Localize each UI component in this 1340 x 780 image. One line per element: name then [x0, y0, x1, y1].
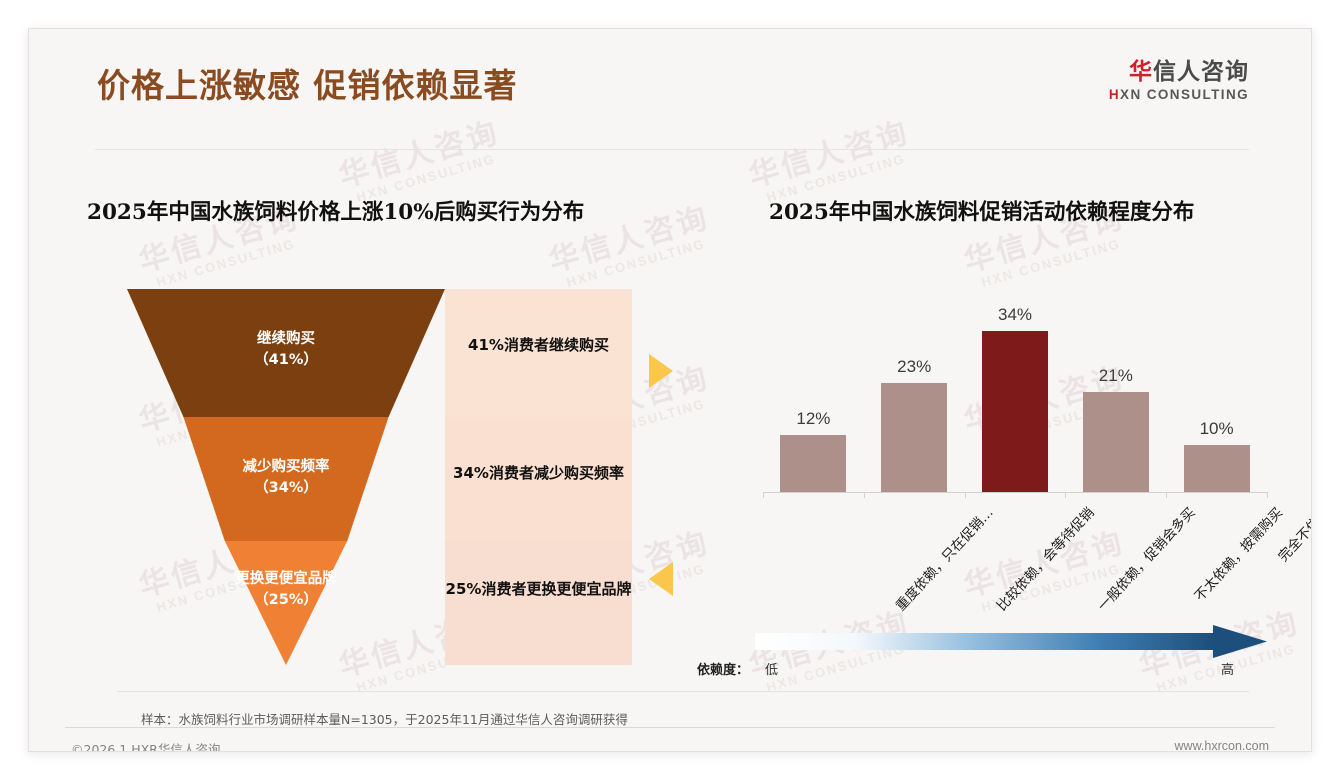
- bar-value-label: 34%: [982, 305, 1048, 325]
- footer-website: www.hxrcon.com: [1175, 739, 1269, 752]
- header-divider: [95, 149, 1249, 150]
- bar-column[interactable]: 10%: [1184, 302, 1250, 492]
- bar-rect[interactable]: [780, 435, 846, 492]
- funnel-segment-description: 25%消费者更换更便宜品牌: [434, 577, 644, 603]
- dependency-gradient-legend: 依赖度： 低 高: [697, 625, 1277, 683]
- x-axis-tick: [965, 492, 966, 498]
- sample-footnote: 样本：水族饲料行业市场调研样本量N=1305，于2025年11月通过华信人咨询调…: [141, 709, 628, 728]
- page-title: 价格上涨敏感 促销依赖显著: [97, 59, 518, 107]
- x-axis-tick: [864, 492, 865, 498]
- x-axis-category-label: 一般依赖，促销会多买: [1092, 502, 1199, 614]
- x-axis-category-label: 重度依赖，只在促销…: [890, 502, 997, 614]
- legend-low-label: 低: [765, 659, 778, 678]
- footer-copyright: ©2026.1 HXR华信人咨询: [71, 739, 220, 752]
- flow-arrow-right-icon: [649, 354, 673, 388]
- funnel-segment[interactable]: [183, 417, 388, 541]
- flow-arrow-left-icon: [649, 562, 673, 596]
- logo-en-rest: XN CONSULTING: [1120, 87, 1249, 102]
- footer-divider: [65, 727, 1275, 728]
- bar-rect[interactable]: [881, 383, 947, 492]
- funnel-segment[interactable]: [225, 541, 347, 665]
- bar-rect[interactable]: [1184, 445, 1250, 493]
- company-logo: 华信人咨询 HXN CONSULTING: [1109, 59, 1249, 102]
- funnel-segment-description: 41%消费者继续购买: [434, 333, 644, 359]
- slide-canvas: 华信人咨询HXN CONSULTING华信人咨询HXN CONSULTING华信…: [28, 28, 1312, 752]
- watermark-text: 华信人咨询HXN CONSULTING: [746, 117, 917, 207]
- logo-english-text: HXN CONSULTING: [1109, 87, 1249, 102]
- funnel-segment[interactable]: [127, 289, 445, 417]
- slide-header: 价格上涨敏感 促销依赖显著 华信人咨询 HXN CONSULTING: [29, 29, 1311, 125]
- logo-rest-chars: 信人咨询: [1153, 59, 1249, 85]
- x-axis-line: [763, 492, 1267, 493]
- x-axis-category-label: 不太依赖，按需购买: [1188, 502, 1285, 604]
- gradient-arrow-icon: [697, 625, 1277, 659]
- funnel-desc-panel: [445, 541, 632, 665]
- x-axis-tick: [1166, 492, 1167, 498]
- legend-caption: 依赖度：: [697, 659, 749, 678]
- funnel-chart: 继续购买（41%）41%消费者继续购买减少购买频率（34%）34%消费者减少购买…: [127, 289, 632, 665]
- x-axis-category-label: 比较依赖，会等待促销: [991, 502, 1098, 614]
- bar-column[interactable]: 21%: [1083, 302, 1149, 492]
- left-chart-title: 2025年中国水族饲料价格上涨10%后购买行为分布: [87, 195, 584, 226]
- watermark-text: 华信人咨询HXN CONSULTING: [336, 117, 507, 207]
- legend-high-label: 高: [1221, 659, 1234, 678]
- logo-en-accent: H: [1109, 87, 1120, 102]
- bar-rect[interactable]: [1083, 392, 1149, 492]
- x-axis-tick: [1065, 492, 1066, 498]
- footnote-divider: [117, 691, 1249, 692]
- bar-value-label: 21%: [1083, 366, 1149, 386]
- bar-rect[interactable]: [982, 331, 1048, 493]
- x-axis-tick: [763, 492, 764, 498]
- bar-value-label: 23%: [881, 357, 947, 377]
- bar-value-label: 10%: [1184, 419, 1250, 439]
- x-axis-tick: [1267, 492, 1268, 498]
- dependency-bar-chart: 12%23%34%21%10% 重度依赖，只在促销…比较依赖，会等待促销一般依赖…: [745, 284, 1285, 614]
- right-chart-title: 2025年中国水族饲料促销活动依赖程度分布: [769, 195, 1194, 226]
- funnel-segment-description: 34%消费者减少购买频率: [434, 461, 644, 487]
- bar-column[interactable]: 23%: [881, 302, 947, 492]
- logo-chinese-text: 华信人咨询: [1109, 59, 1249, 85]
- logo-accent-char: 华: [1129, 59, 1153, 85]
- bar-plot-area: 12%23%34%21%10%: [763, 302, 1267, 492]
- bar-value-label: 12%: [780, 409, 846, 429]
- bar-column[interactable]: 12%: [780, 302, 846, 492]
- bar-column[interactable]: 34%: [982, 302, 1048, 492]
